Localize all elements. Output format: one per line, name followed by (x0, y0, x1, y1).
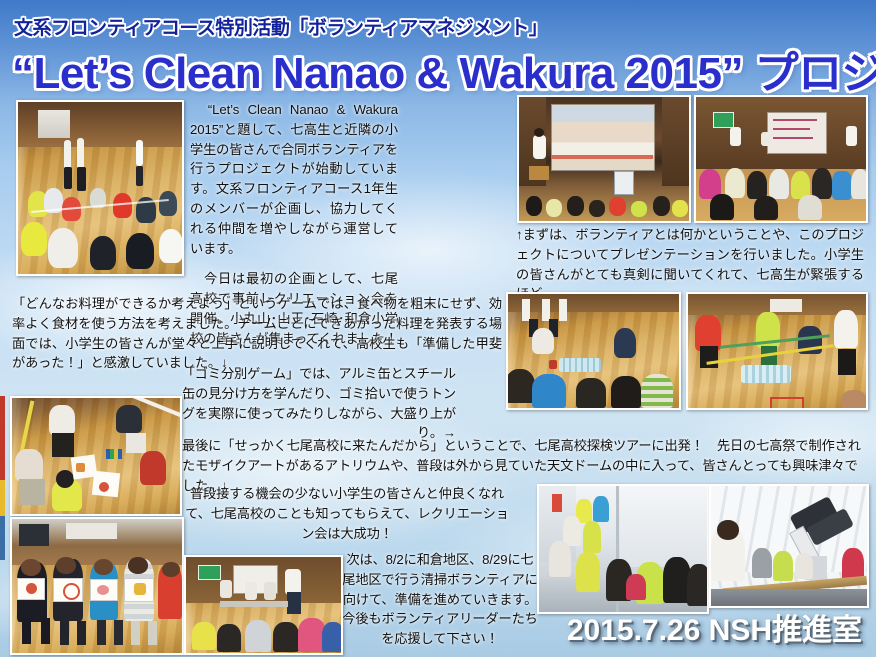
photo-astronomy-dome (709, 484, 869, 608)
photo-presentation-speaker (517, 95, 691, 223)
photo-trash-sorting-right (686, 292, 868, 410)
footer-date: 2015.7.26 NSH推進室 (567, 605, 862, 649)
intro-paragraph-1: “Let’s Clean Nanao & Wakura 2015”と題して、七高… (190, 100, 398, 258)
cooking-game-text: 「どんなお料理ができるか考えよう」というゲームでは、食べ物を粗末にせず、効率よく… (12, 294, 502, 373)
accent-bar-red (0, 396, 5, 480)
photo-closing-assembly (184, 555, 343, 655)
page-title: “Let’s Clean Nanao & Wakura 2015” プロジェクト (12, 37, 876, 101)
photo-cooking-group (10, 396, 182, 516)
accent-bar-yellow (0, 480, 5, 516)
photo-trash-sorting-left (506, 292, 681, 410)
accent-bar-blue (0, 516, 5, 560)
photo-presentation-audience (694, 95, 868, 223)
photo-atrium-tour (537, 484, 709, 614)
success-text: 普段接する機会の少ない小学生の皆さんと仲良くなれて、七尾高校のことも知ってもらえ… (182, 484, 512, 543)
success-paragraph: 普段接する機会の少ない小学生の皆さんと仲良くなれて、七尾高校のことも知ってもらえ… (182, 484, 512, 543)
cooking-game-paragraph: 「どんなお料理ができるか考えよう」というゲームでは、食べ物を粗末にせず、効率よく… (12, 294, 502, 373)
poster-canvas: 文系フロンティアコース特別活動「ボランティアマネジメント」 “Let’s Cle… (0, 0, 876, 657)
next-event-text: 次は、8/2に和倉地区、8/29に七尾地区で行う清掃ボランティアに向けて、準備を… (340, 550, 540, 649)
trash-game-paragraph: 「ゴミ分別ゲーム」では、アルミ缶とスチール缶の見分け方を学んだり、ゴミ拾いで使う… (176, 364, 456, 443)
trash-game-text: 「ゴミ分別ゲーム」では、アルミ缶とスチール缶の見分け方を学んだり、ゴミ拾いで使う… (176, 364, 456, 443)
photo-cooking-presentation (10, 517, 184, 655)
next-event-paragraph: 次は、8/2に和倉地区、8/29に七尾地区で行う清掃ボランティアに向けて、準備を… (340, 550, 540, 649)
photo-gym-circle (16, 100, 184, 276)
poster-subtitle: 文系フロンティアコース特別活動「ボランティアマネジメント」 (14, 13, 547, 40)
